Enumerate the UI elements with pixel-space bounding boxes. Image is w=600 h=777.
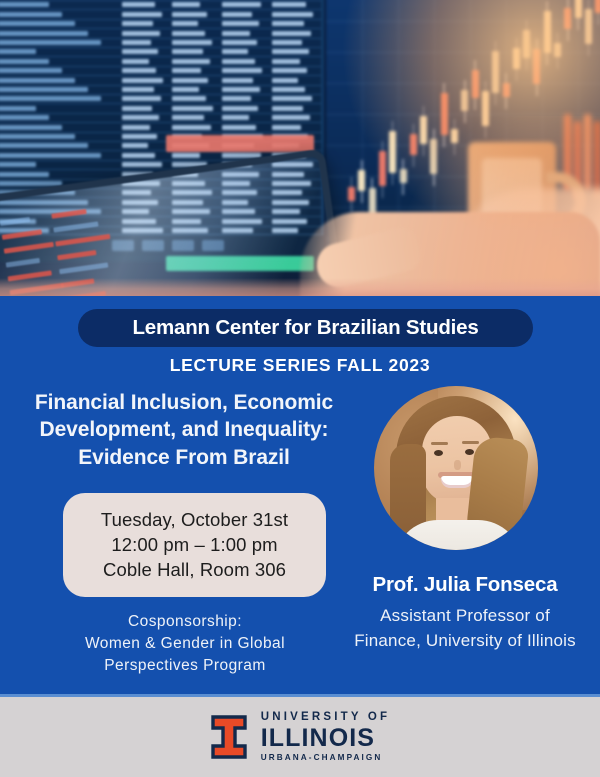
speaker-role-line-1: Assistant Professor of — [330, 604, 600, 629]
logo-line-university: UNIVERSITY OF — [261, 712, 391, 724]
speaker-role-line-2: Finance, University of Illinois — [330, 629, 600, 654]
headshot-brow-left — [431, 442, 448, 445]
headshot-smile — [441, 476, 473, 488]
talk-title: Financial Inclusion, Economic Developmen… — [8, 389, 360, 471]
cosponsorship-heading: Cosponsorship: — [20, 611, 350, 633]
poster-body: Lemann Center for Brazilian Studies LECT… — [0, 296, 600, 694]
headshot-nose — [454, 460, 461, 470]
center-name-badge: Lemann Center for Brazilian Studies — [78, 309, 533, 347]
talk-title-line-1: Financial Inclusion, Economic — [8, 389, 360, 416]
event-poster: Lemann Center for Brazilian Studies LECT… — [0, 0, 600, 777]
event-date: Tuesday, October 31st — [101, 508, 288, 532]
cosponsorship-line-2: Women & Gender in Global — [20, 633, 350, 655]
headshot-brow-right — [462, 441, 479, 444]
block-i-icon — [210, 714, 248, 760]
hero-bottom-fade — [0, 278, 600, 296]
headshot-eye-right — [465, 449, 474, 455]
event-location: Coble Hall, Room 306 — [103, 558, 286, 582]
speaker-name: Prof. Julia Fonseca — [330, 573, 600, 597]
lecture-series-label: LECTURE SERIES FALL 2023 — [0, 355, 600, 376]
event-time: 12:00 pm – 1:00 pm — [111, 533, 277, 557]
hero-photo — [0, 0, 600, 296]
logo-line-campus: URBANA-CHAMPAIGN — [261, 754, 391, 762]
logo-line-illinois: ILLINOIS — [261, 726, 391, 751]
cosponsorship-line-3: Perspectives Program — [20, 655, 350, 677]
cosponsorship-block: Cosponsorship: Women & Gender in Global … — [20, 611, 350, 677]
warm-light-glow-bottom — [380, 116, 600, 296]
center-name-label: Lemann Center for Brazilian Studies — [132, 316, 478, 340]
event-details-box: Tuesday, October 31st 12:00 pm – 1:00 pm… — [63, 493, 326, 597]
poster-footer: UNIVERSITY OF ILLINOIS URBANA-CHAMPAIGN — [0, 697, 600, 777]
talk-title-line-2: Development, and Inequality: — [8, 416, 360, 443]
university-logo: UNIVERSITY OF ILLINOIS URBANA-CHAMPAIGN — [210, 712, 391, 762]
talk-title-line-3: Evidence From Brazil — [8, 444, 360, 471]
speaker-role: Assistant Professor of Finance, Universi… — [330, 604, 600, 653]
logo-wordmark: UNIVERSITY OF ILLINOIS URBANA-CHAMPAIGN — [261, 712, 391, 762]
headshot-eye-left — [434, 450, 443, 456]
speaker-headshot — [374, 386, 538, 550]
